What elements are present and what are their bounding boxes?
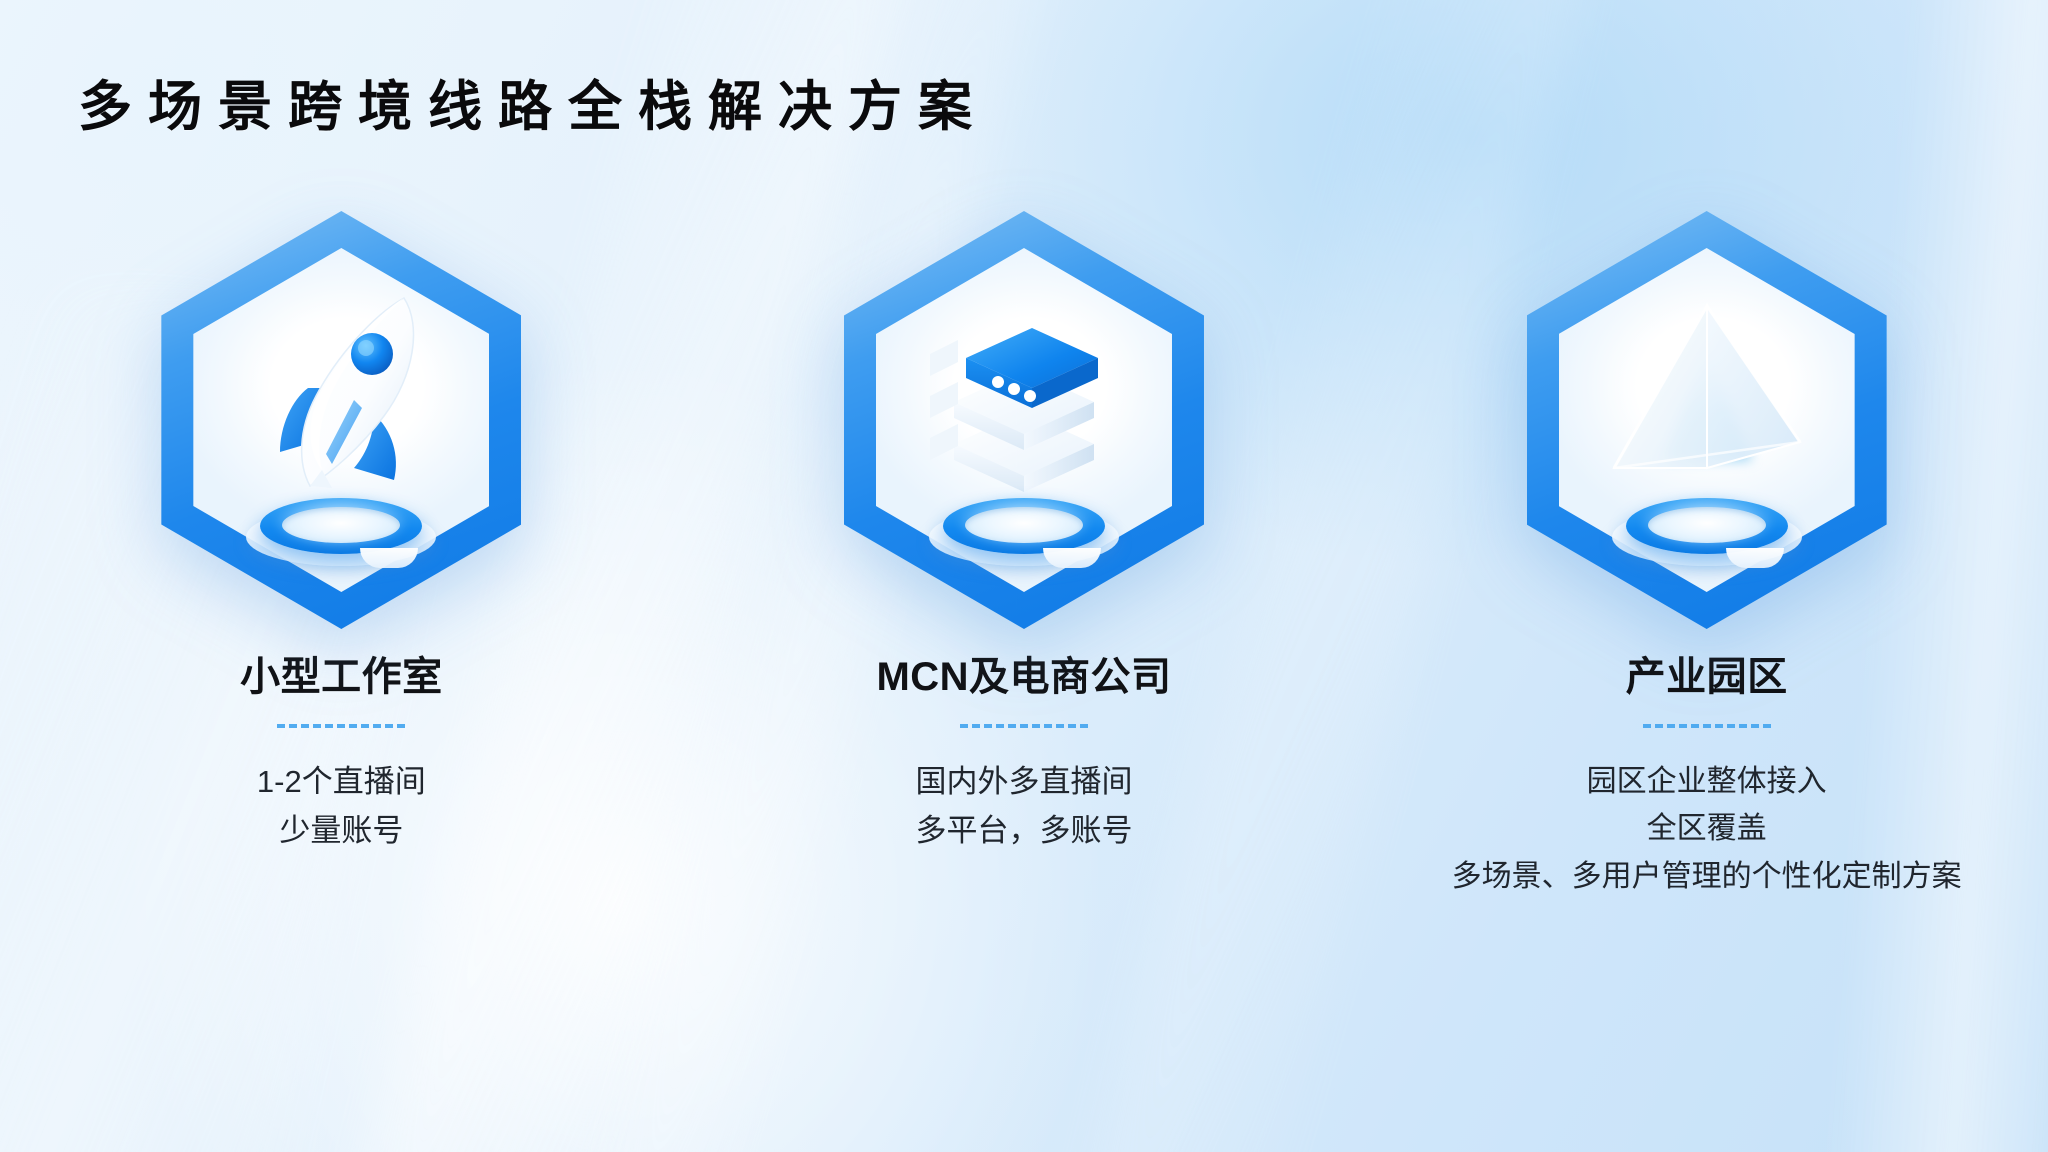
feature-card: 产业园区 园区企业整体接入 全区覆盖 多场景、多用户管理的个性化定制方案 <box>1407 210 2007 900</box>
glass-pyramid-icon <box>1592 292 1822 492</box>
card-divider <box>960 724 1088 728</box>
server-stack-icon <box>914 292 1134 502</box>
feature-card-row: 小型工作室 1-2个直播间 少量账号 <box>0 210 2048 900</box>
card-divider <box>277 724 405 728</box>
card-description-line: 园区企业整体接入 <box>1452 758 1962 805</box>
card-title: 小型工作室 <box>240 644 443 702</box>
card-description-line: 少量账号 <box>257 807 426 856</box>
page-title: 多场景跨境线路全栈解决方案 <box>78 62 988 141</box>
card-description-line: 多场景、多用户管理的个性化定制方案 <box>1452 853 1962 900</box>
card-description-line: 1-2个直播间 <box>257 758 426 807</box>
card-description: 国内外多直播间 多平台，多账号 <box>915 758 1132 856</box>
glow-disc-base <box>929 494 1119 568</box>
hexagon-badge <box>1517 210 1897 630</box>
card-description-line: 多平台，多账号 <box>915 807 1132 856</box>
rocket-icon <box>236 280 446 510</box>
slide-canvas: 多场景跨境线路全栈解决方案 <box>0 0 2048 1152</box>
glow-disc-base <box>1612 494 1802 568</box>
feature-card: 小型工作室 1-2个直播间 少量账号 <box>41 210 641 856</box>
feature-card: MCN及电商公司 国内外多直播间 多平台，多账号 <box>724 210 1324 856</box>
hexagon-badge <box>151 210 531 630</box>
card-description-line: 国内外多直播间 <box>915 758 1132 807</box>
card-description-line: 全区覆盖 <box>1452 805 1962 852</box>
card-divider <box>1643 724 1771 728</box>
card-title: 产业园区 <box>1626 644 1788 702</box>
hexagon-badge <box>834 210 1214 630</box>
card-title: MCN及电商公司 <box>876 644 1171 702</box>
card-description: 园区企业整体接入 全区覆盖 多场景、多用户管理的个性化定制方案 <box>1452 758 1962 900</box>
card-description: 1-2个直播间 少量账号 <box>257 758 426 856</box>
